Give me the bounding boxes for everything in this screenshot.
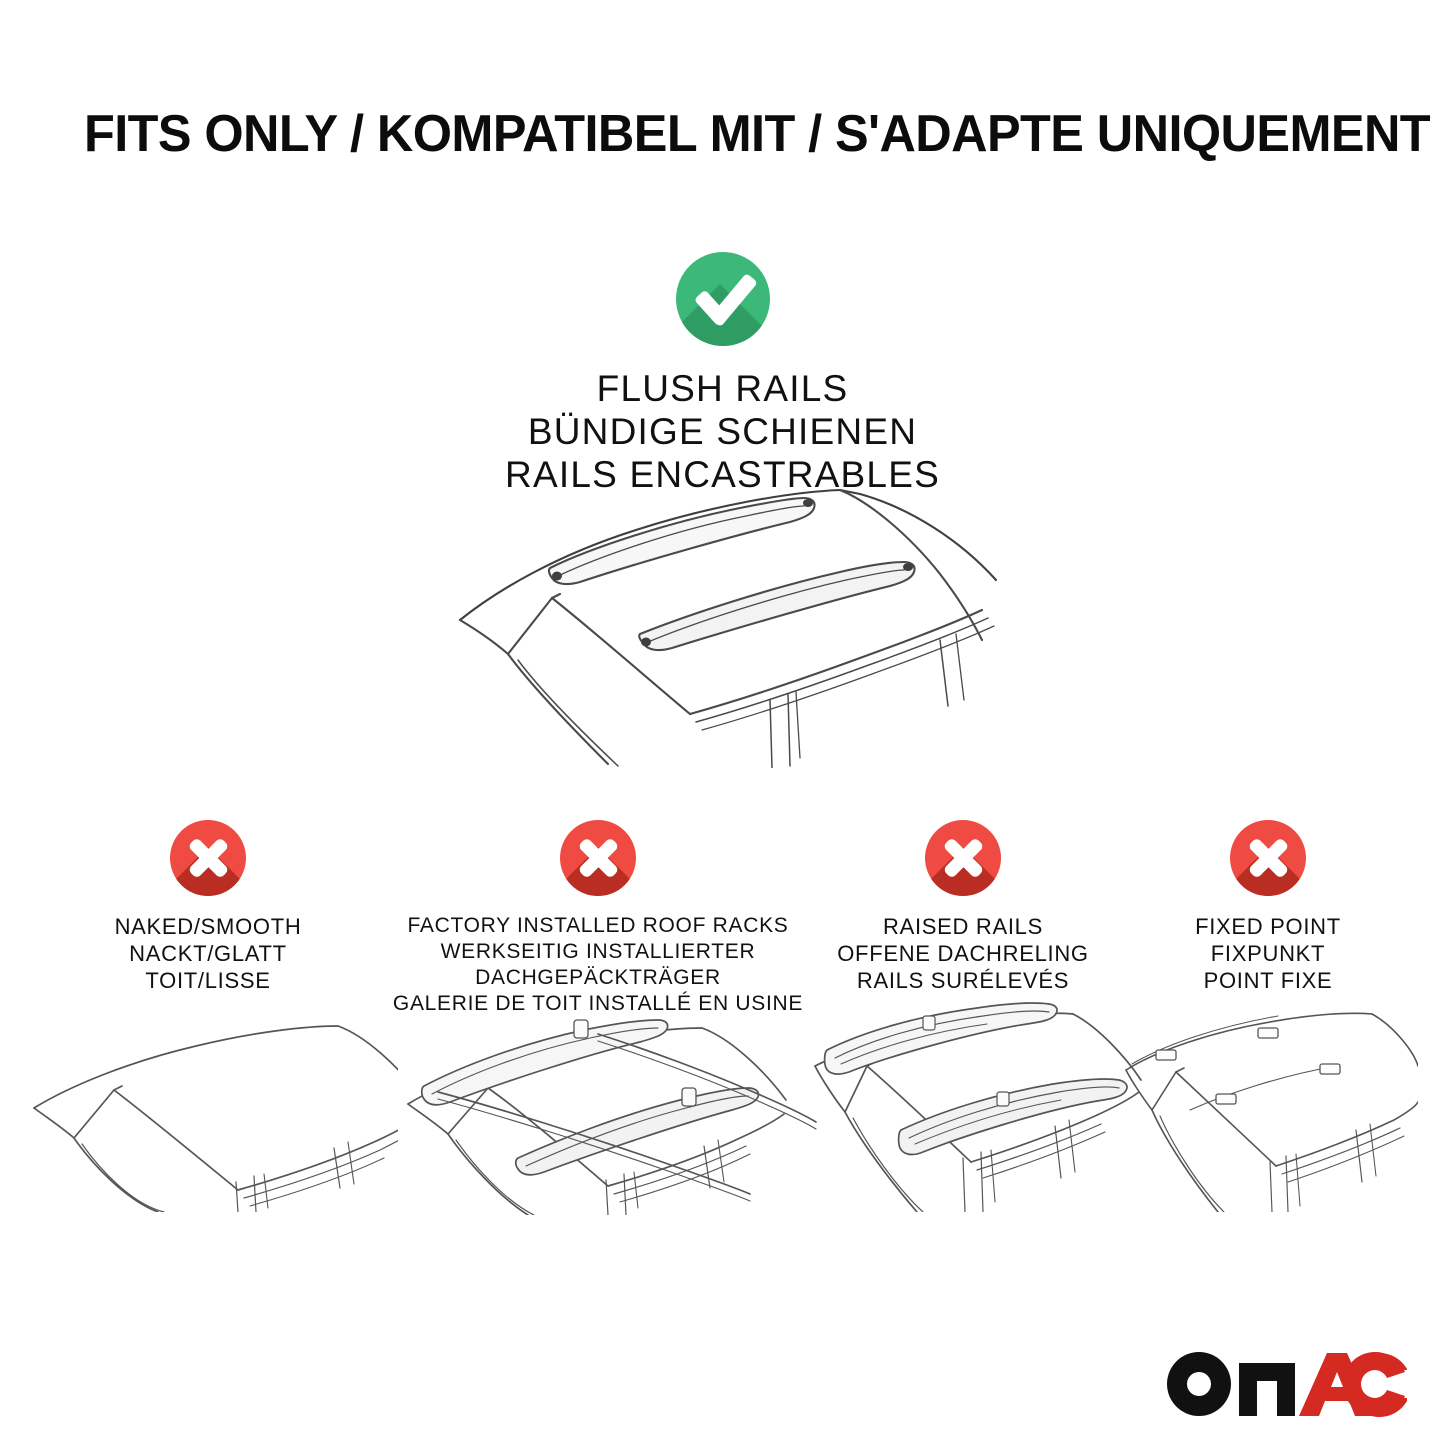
label-line-en: FACTORY INSTALLED ROOF RACKS: [368, 913, 828, 939]
label-line-de: OFFENE DACHRELING: [805, 940, 1121, 967]
incompatible-label-group: FIXED POINT FIXPUNKT POINT FIXE: [1118, 913, 1418, 994]
incompatible-label-group: NAKED/SMOOTH NACKT/GLATT TOIT/LISSE: [18, 913, 398, 994]
label-line-de: FIXPUNKT: [1118, 940, 1418, 967]
x-circle-icon: [170, 820, 246, 896]
x-mark: [925, 820, 1001, 896]
label-line-de-2: DACHGEPÄCKTRÄGER: [368, 965, 828, 991]
incompatible-section: NAKED/SMOOTH NACKT/GLATT TOIT/LISSE: [0, 820, 1445, 1240]
x-mark: [1230, 820, 1306, 896]
label-line-en: FIXED POINT: [1118, 913, 1418, 940]
check-mark: [676, 252, 770, 346]
incompatible-item-fixed-point: FIXED POINT FIXPUNKT POINT FIXE: [1118, 820, 1418, 994]
page-title: FITS ONLY / KOMPATIBEL MIT / S'ADAPTE UN…: [84, 104, 1335, 164]
x-mark: [560, 820, 636, 896]
x-circle-icon: [560, 820, 636, 896]
label-line-en: RAISED RAILS: [805, 913, 1121, 940]
x-circle-icon: [1230, 820, 1306, 896]
incompatible-label-group: RAISED RAILS OFFENE DACHRELING RAILS SUR…: [805, 913, 1121, 994]
compatible-section: FLUSH RAILS BÜNDIGE SCHIENEN RAILS ENCAS…: [0, 252, 1445, 496]
incompatible-item-naked-smooth: NAKED/SMOOTH NACKT/GLATT TOIT/LISSE: [18, 820, 398, 994]
incompatible-item-factory-roof-racks: FACTORY INSTALLED ROOF RACKS WERKSEITIG …: [368, 820, 828, 1017]
compatible-label-de: BÜNDIGE SCHIENEN: [0, 410, 1445, 453]
label-line-fr: TOIT/LISSE: [18, 967, 398, 994]
compatible-label-en: FLUSH RAILS: [0, 367, 1445, 410]
logo-letter-m: [1239, 1363, 1295, 1416]
label-line-de: NACKT/GLATT: [18, 940, 398, 967]
label-line-en: NAKED/SMOOTH: [18, 913, 398, 940]
check-circle-icon: [676, 252, 770, 346]
x-mark: [170, 820, 246, 896]
fixed-point-illustration: [1118, 1002, 1418, 1217]
flush-rails-roof-illustration: [440, 468, 1020, 768]
label-line-fr: RAILS SURÉLEVÉS: [805, 967, 1121, 994]
omac-logo: OMAC: [1159, 1341, 1409, 1427]
incompatible-item-raised-rails: RAISED RAILS OFFENE DACHRELING RAILS SUR…: [805, 820, 1121, 994]
x-circle-icon: [925, 820, 1001, 896]
roof-racks-illustration: [368, 1000, 828, 1220]
bare-roof-illustration: [18, 1012, 398, 1217]
logo-letter-o: [1167, 1352, 1231, 1416]
label-line-de-1: WERKSEITIG INSTALLIERTER: [368, 939, 828, 965]
label-line-fr: POINT FIXE: [1118, 967, 1418, 994]
raised-rails-illustration: [805, 1002, 1121, 1217]
